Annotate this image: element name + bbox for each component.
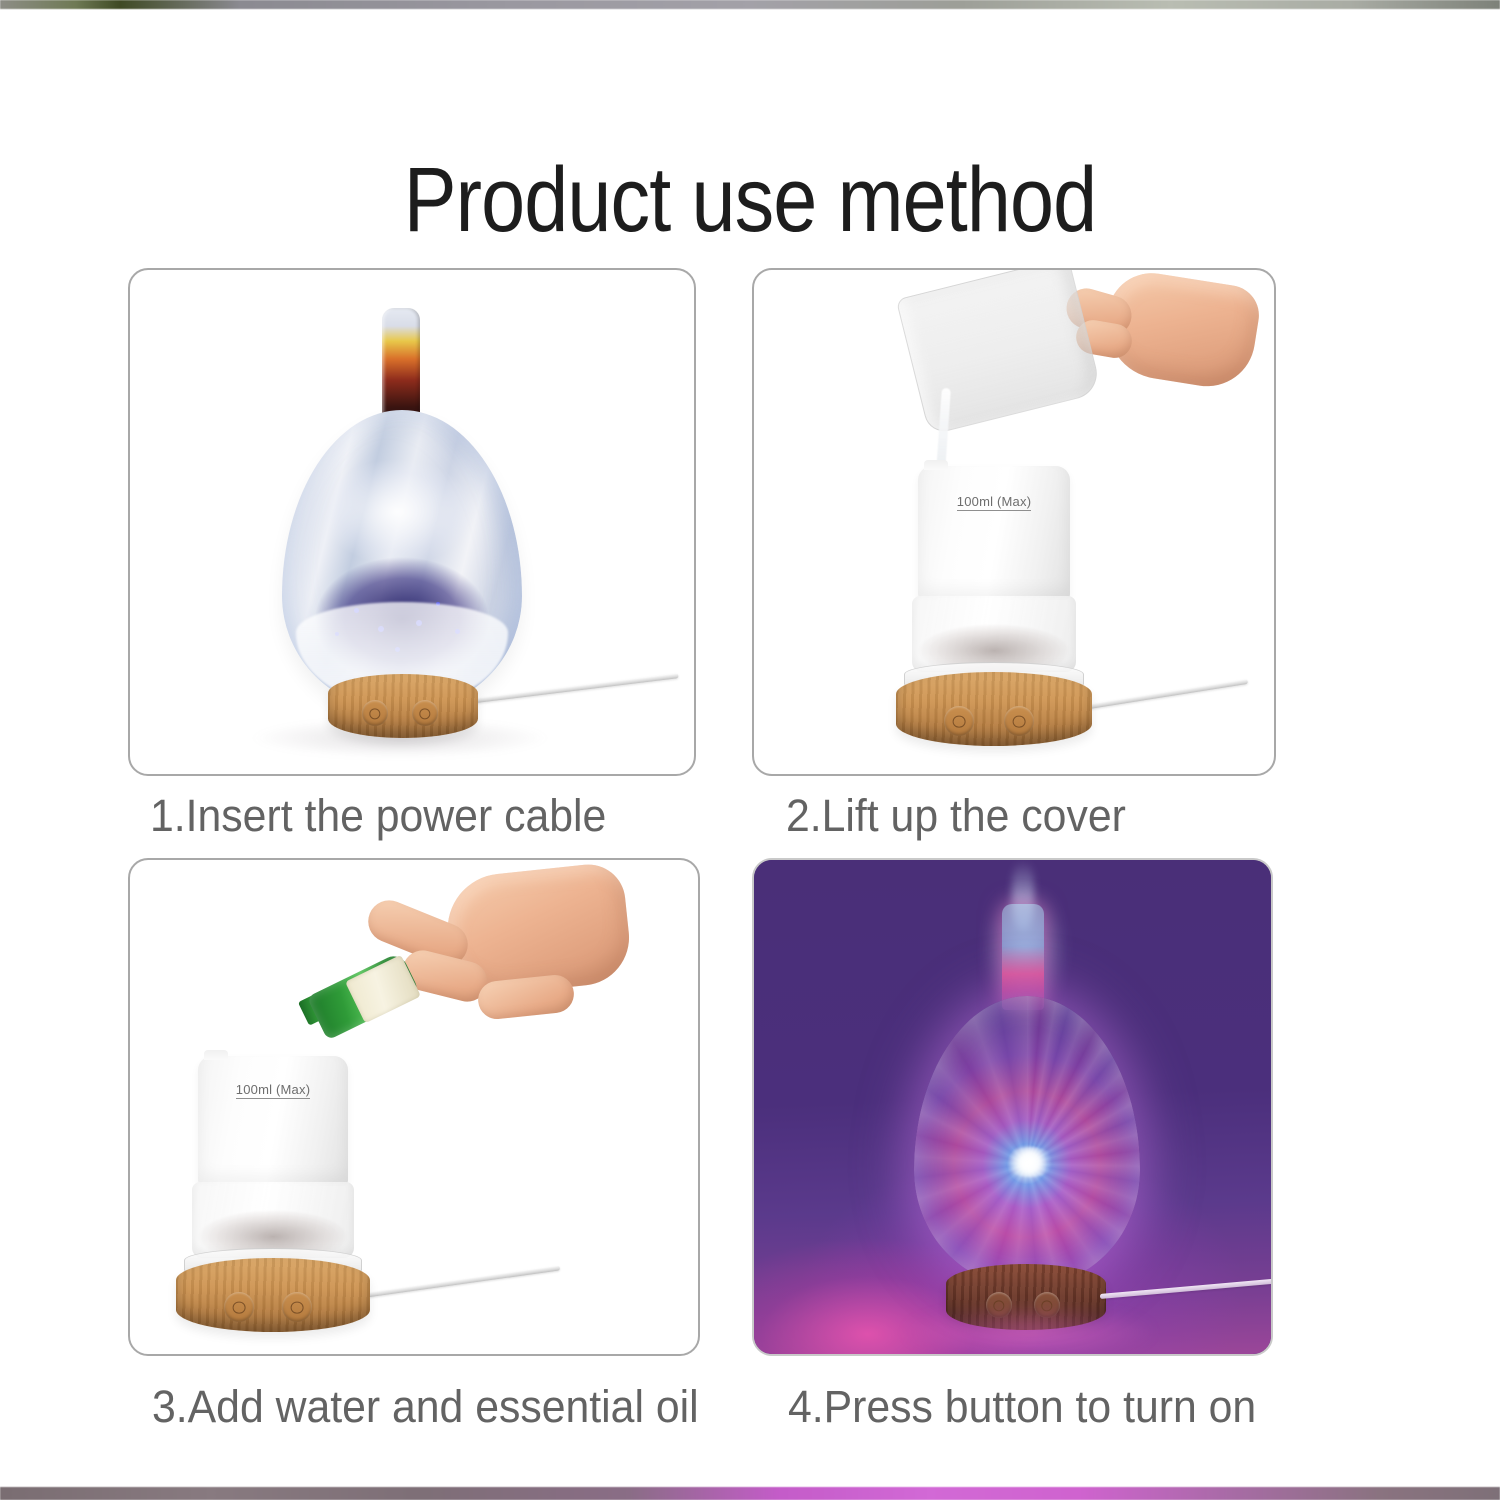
light-button[interactable] — [1004, 706, 1034, 736]
step-3-image-frame: 100ml (Max) — [128, 858, 700, 1356]
power-button[interactable] — [944, 706, 974, 736]
step-3-caption: 3.Add water and essential oil — [152, 1382, 699, 1432]
light-button[interactable] — [282, 1292, 312, 1322]
step-1-image-frame — [128, 268, 696, 776]
water-tank-lower — [192, 1182, 354, 1258]
firework-glass-body — [914, 996, 1140, 1286]
step-2-image-frame: 100ml (Max) — [752, 268, 1276, 776]
steps-grid: 100ml (Max) — [0, 0, 1500, 1500]
power-button[interactable] — [224, 1292, 254, 1322]
step-4-scene — [754, 860, 1271, 1354]
water-tank-lower — [912, 596, 1076, 672]
step-panel-1 — [128, 268, 696, 776]
step-panel-3: 100ml (Max) — [128, 858, 700, 1356]
glass-neck — [1002, 904, 1044, 1010]
water-tank-upper: 100ml (Max) — [918, 466, 1070, 600]
step-4-image-frame — [752, 858, 1273, 1356]
step-3-scene: 100ml (Max) — [130, 860, 698, 1354]
step-panel-2: 100ml (Max) — [752, 268, 1276, 776]
wooden-base — [176, 1258, 370, 1332]
wooden-base — [896, 672, 1092, 746]
vase-body — [282, 410, 522, 710]
step-4-caption: 4.Press button to turn on — [788, 1382, 1256, 1432]
step-1-scene — [130, 270, 694, 774]
wooden-base — [328, 674, 478, 738]
step-2-caption: 2.Lift up the cover — [786, 791, 1126, 841]
power-cable — [1100, 1278, 1273, 1299]
light-button[interactable] — [412, 700, 438, 726]
firework-core — [1004, 1147, 1056, 1177]
power-cable — [342, 1265, 561, 1301]
water-tank-upper: 100ml (Max) — [198, 1056, 348, 1186]
step-1-caption: 1.Insert the power cable — [150, 791, 606, 841]
product-instruction-page: Product use method — [0, 0, 1500, 1500]
power-cable — [460, 673, 679, 705]
step-2-scene: 100ml (Max) — [754, 270, 1274, 774]
tank-capacity-label: 100ml (Max) — [918, 494, 1070, 509]
step-panel-4 — [752, 858, 1273, 1356]
power-button[interactable] — [362, 700, 388, 726]
surface-reflection — [904, 1306, 1154, 1356]
tank-capacity-label: 100ml (Max) — [198, 1082, 348, 1097]
measuring-cup — [896, 268, 1103, 435]
